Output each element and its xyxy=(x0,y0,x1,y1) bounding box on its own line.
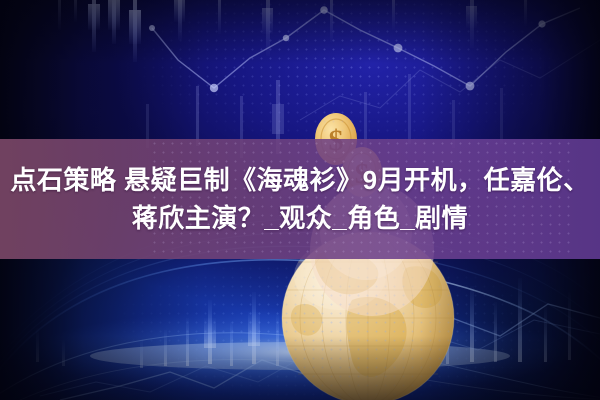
headline-line-1: 点石策略 悬疑巨制《海魂衫》9月开机，任嘉伦、 xyxy=(10,161,589,199)
thumbnail-banner: $ $ 点石策略 悬疑巨制《海魂衫》9月开机，任嘉伦、 蒋欣主演？_观众_角色_… xyxy=(0,0,600,400)
headline-line-2: 蒋欣主演？_观众_角色_剧情 xyxy=(132,199,468,237)
headline-band: 点石策略 悬疑巨制《海魂衫》9月开机，任嘉伦、 蒋欣主演？_观众_角色_剧情 xyxy=(0,139,600,259)
